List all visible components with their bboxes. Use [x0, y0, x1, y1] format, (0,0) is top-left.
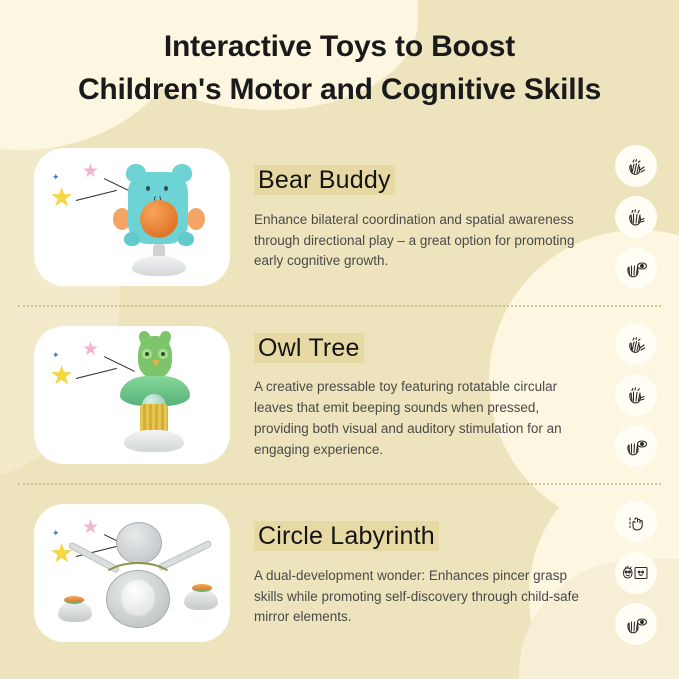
- product-image-card-owl-tree: ✦ ★ ★: [34, 326, 230, 464]
- pink-star-icon: ★: [82, 162, 99, 181]
- product-title-circle-labyrinth: Circle Labyrinth: [254, 521, 439, 551]
- section-divider: [18, 305, 661, 307]
- product-description-circle-labyrinth: A dual-development wonder: Enhances pinc…: [254, 566, 594, 628]
- product-section-bear-buddy: ✦ ★ ★ Bear Buddy Enh: [0, 129, 679, 305]
- product-title-bear-buddy: Bear Buddy: [254, 165, 395, 195]
- benefit-icons-owl-tree: [605, 323, 667, 467]
- two-hands-icon: [615, 196, 657, 238]
- owl-tree-toy-illustration: [112, 336, 198, 456]
- page-title-line-1: Interactive Toys to Boost: [40, 26, 639, 69]
- bear-foot-left: [124, 232, 140, 246]
- product-description-owl-tree: A creative pressable toy featuring rotat…: [254, 377, 594, 460]
- circle-labyrinth-toy-illustration: [58, 522, 218, 634]
- product-section-owl-tree: ✦ ★ ★ Owl Tree A creative pre: [0, 307, 679, 483]
- product-image-card-circle-labyrinth: ✦ ★ ★: [34, 504, 230, 642]
- product-list: ✦ ★ ★ Bear Buddy Enh: [0, 117, 679, 661]
- sparkle-ray: [76, 368, 117, 380]
- product-image-card-bear-buddy: ✦ ★ ★: [34, 148, 230, 286]
- bear-buddy-toy-illustration: [120, 164, 198, 276]
- two-hands-icon: [615, 323, 657, 365]
- suction-cup-base: [132, 256, 186, 276]
- bear-arm-right: [187, 208, 205, 230]
- pinching-hand-icon: [615, 501, 657, 543]
- two-hands-icon: [615, 145, 657, 187]
- section-divider: [18, 483, 661, 485]
- hand-eye-coordination-icon: [615, 247, 657, 289]
- two-hands-icon: [615, 374, 657, 416]
- pink-star-icon: ★: [82, 340, 99, 359]
- hand-eye-coordination-icon: [615, 425, 657, 467]
- owl-beak: [152, 360, 160, 366]
- suction-cup-base: [124, 430, 184, 452]
- yellow-star-icon: ★: [50, 362, 73, 388]
- labyrinth-arm-right: [157, 540, 212, 572]
- labyrinth-mirror-disc: [121, 580, 155, 616]
- sparkle-ray: [76, 190, 117, 202]
- product-description-bear-buddy: Enhance bilateral coordination and spati…: [254, 210, 594, 272]
- bear-orange-ball: [140, 200, 178, 238]
- suction-cup-left: [58, 602, 92, 622]
- sparkle-dots-icon: ✦: [52, 350, 62, 360]
- product-section-circle-labyrinth: ✦ ★ ★ Circle Labyrinth A dual-developmen…: [0, 485, 679, 661]
- page-title-line-2: Children's Motor and Cognitive Skills: [40, 69, 639, 112]
- labyrinth-top-disc: [116, 522, 162, 564]
- product-title-owl-tree: Owl Tree: [254, 333, 364, 363]
- product-text-circle-labyrinth: Circle Labyrinth A dual-development wond…: [230, 518, 605, 628]
- yellow-star-icon: ★: [50, 184, 73, 210]
- product-text-bear-buddy: Bear Buddy Enhance bilateral coordinatio…: [230, 162, 605, 272]
- baby-mirror-icon: [615, 552, 657, 594]
- product-text-owl-tree: Owl Tree A creative pressable toy featur…: [230, 330, 605, 461]
- benefit-icons-circle-labyrinth: [605, 501, 667, 645]
- bear-foot-right: [178, 232, 194, 246]
- benefit-icons-bear-buddy: [605, 145, 667, 289]
- suction-cup-right: [184, 590, 218, 610]
- page-header: Interactive Toys to Boost Children's Mot…: [0, 0, 679, 117]
- hand-eye-coordination-icon: [615, 603, 657, 645]
- sparkle-dots-icon: ✦: [52, 172, 62, 182]
